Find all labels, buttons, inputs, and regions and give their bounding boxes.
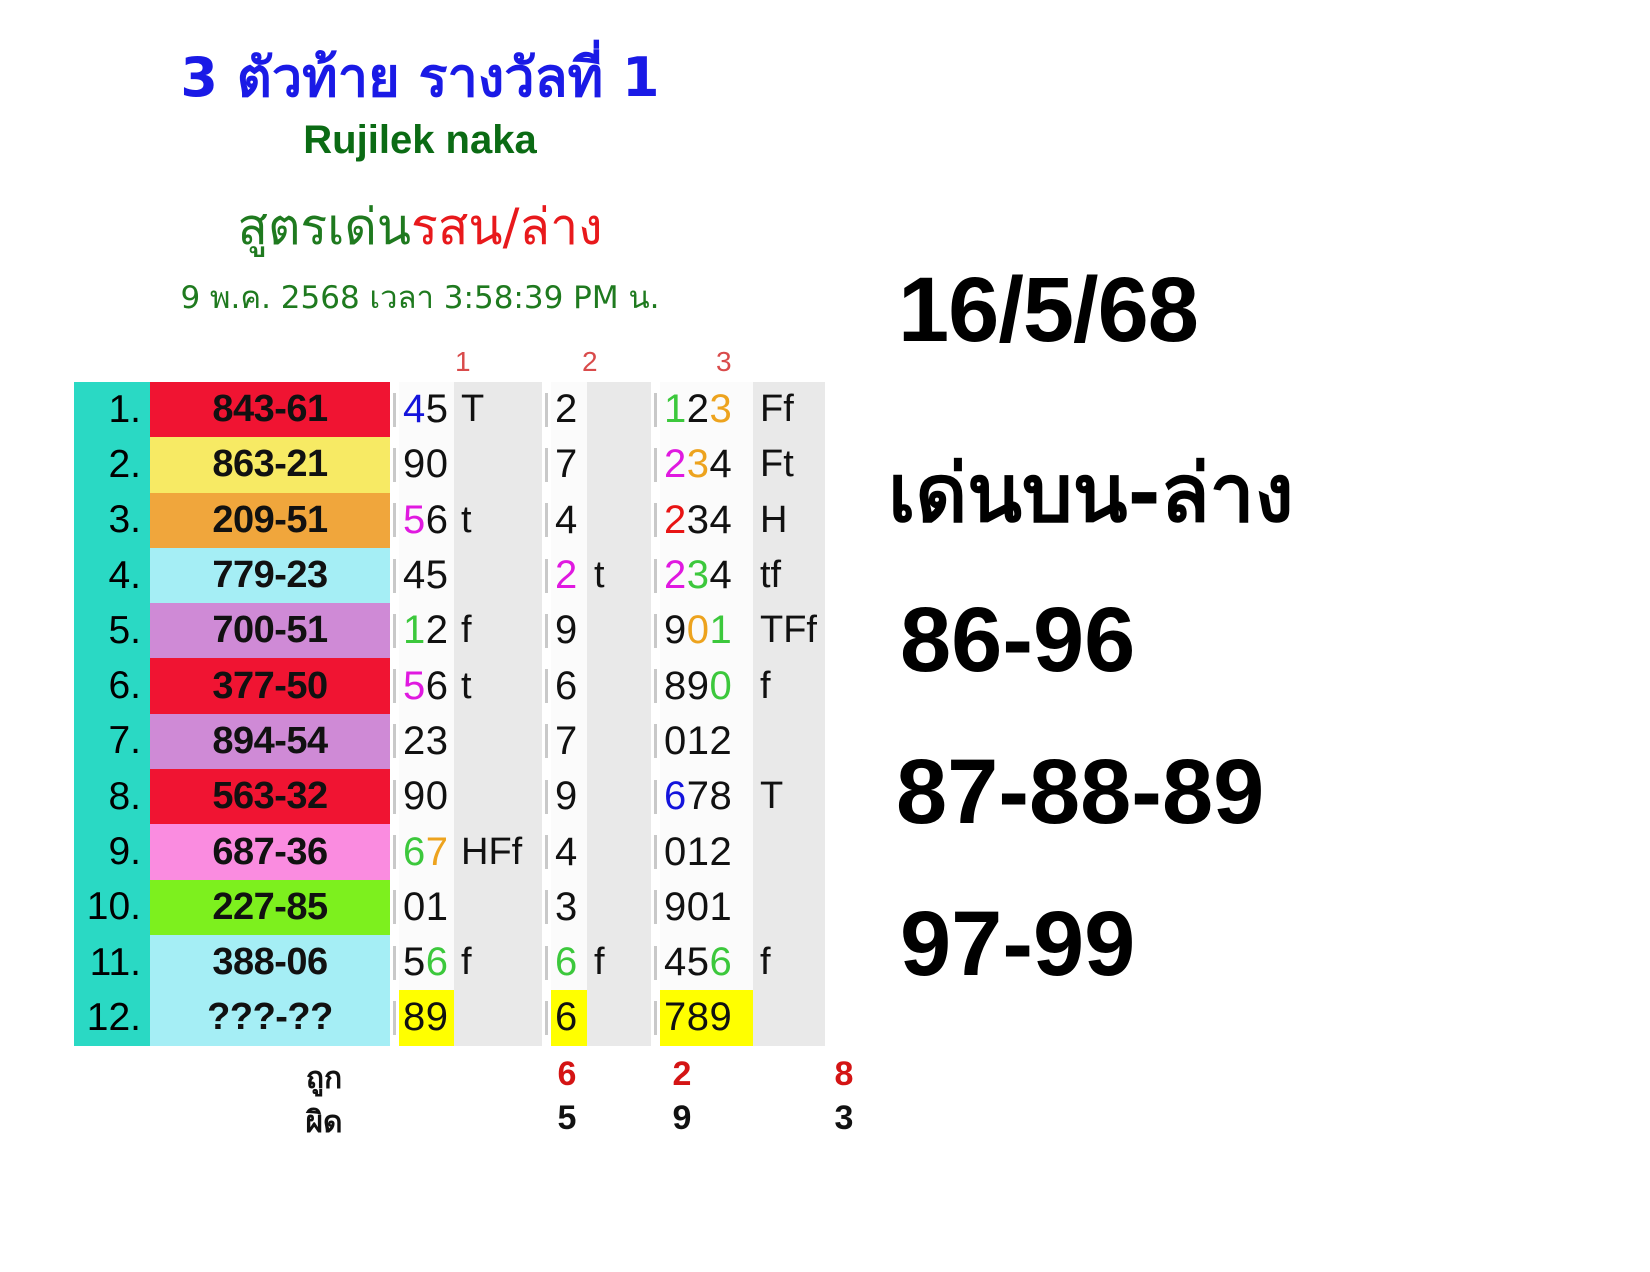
digit: 1 bbox=[710, 608, 733, 653]
group-1-letters bbox=[454, 990, 542, 1045]
group-2-digits: 2 bbox=[551, 382, 587, 437]
column-header-row: 1 2 3 bbox=[0, 348, 880, 380]
digit: 8 bbox=[687, 995, 710, 1040]
row-number: 1. bbox=[74, 382, 150, 437]
separator-bar bbox=[393, 614, 396, 648]
group-1-letters bbox=[454, 880, 542, 935]
digit: 6 bbox=[403, 830, 426, 875]
digit: 6 bbox=[555, 995, 578, 1040]
row-number: 9. bbox=[74, 824, 150, 879]
column-separator bbox=[390, 880, 399, 935]
group-1-digits: 90 bbox=[399, 769, 454, 824]
group-3-letters: TFf bbox=[753, 603, 825, 658]
digit: 2 bbox=[555, 387, 578, 432]
digit: 1 bbox=[403, 608, 426, 653]
group-2-letters bbox=[587, 769, 651, 824]
separator-bar bbox=[654, 1001, 657, 1035]
group-1-cell: 56t bbox=[390, 658, 542, 713]
draw-number: 894-54 bbox=[150, 714, 390, 769]
hit-value-1: 6 bbox=[537, 1055, 597, 1094]
group-2-digits: 7 bbox=[551, 714, 587, 769]
digit: 4 bbox=[710, 442, 733, 487]
digit: 6 bbox=[426, 498, 449, 543]
group-1-letters: HFf bbox=[454, 824, 542, 879]
digit: 7 bbox=[687, 774, 710, 819]
column-separator bbox=[542, 548, 551, 603]
column-separator bbox=[651, 880, 660, 935]
group-3-digits: 456 bbox=[660, 935, 753, 990]
digit: 9 bbox=[555, 608, 578, 653]
group-3-digits: 789 bbox=[660, 990, 753, 1045]
separator-bar bbox=[654, 559, 657, 593]
group-1-cell: 67HFf bbox=[390, 824, 542, 879]
separator-bar bbox=[654, 835, 657, 869]
column-separator bbox=[390, 493, 399, 548]
separator-bar bbox=[545, 393, 548, 427]
group-2-letters: f bbox=[587, 935, 651, 990]
separator-bar bbox=[654, 448, 657, 482]
group-3-cell: 901TFf bbox=[651, 603, 825, 658]
group-2-letters bbox=[587, 658, 651, 713]
column-separator bbox=[542, 990, 551, 1045]
digit: 5 bbox=[687, 940, 710, 985]
group-1-digits: 89 bbox=[399, 990, 454, 1045]
digit: 4 bbox=[403, 387, 426, 432]
column-separator bbox=[390, 548, 399, 603]
digit: 4 bbox=[555, 498, 578, 543]
draw-number: 843-61 bbox=[150, 382, 390, 437]
page-title: 3 ตัวท้าย รางวัลที่ 1 bbox=[0, 34, 840, 120]
row-number: 3. bbox=[74, 493, 150, 548]
column-separator bbox=[390, 437, 399, 492]
row-number: 11. bbox=[74, 935, 150, 990]
digit: 9 bbox=[555, 774, 578, 819]
group-3-cell: 789 bbox=[651, 990, 825, 1045]
draw-number: 227-85 bbox=[150, 880, 390, 935]
digit: 2 bbox=[664, 498, 687, 543]
digit: 4 bbox=[710, 498, 733, 543]
digit: 9 bbox=[403, 774, 426, 819]
group-3-cell: 123Ff bbox=[651, 382, 825, 437]
digit: 7 bbox=[555, 719, 578, 764]
group-3-digits: 234 bbox=[660, 493, 753, 548]
separator-bar bbox=[654, 669, 657, 703]
group-1-letters bbox=[454, 769, 542, 824]
column-separator bbox=[542, 382, 551, 437]
digit: 6 bbox=[664, 774, 687, 819]
column-separator bbox=[390, 714, 399, 769]
table-row: 2.863-21907234Ft bbox=[74, 437, 825, 492]
group-3-digits: 012 bbox=[660, 824, 753, 879]
group-2-cell: 7 bbox=[542, 437, 651, 492]
row-number: 5. bbox=[74, 603, 150, 658]
column-separator bbox=[651, 437, 660, 492]
digit: 1 bbox=[710, 885, 733, 930]
row-number: 10. bbox=[74, 880, 150, 935]
separator-bar bbox=[654, 724, 657, 758]
column-separator bbox=[651, 548, 660, 603]
group-1-cell: 23 bbox=[390, 714, 542, 769]
digit: 1 bbox=[687, 719, 710, 764]
group-3-letters: f bbox=[753, 935, 825, 990]
digit: 5 bbox=[426, 387, 449, 432]
miss-value-2: 9 bbox=[652, 1099, 712, 1138]
group-3-letters bbox=[753, 880, 825, 935]
digit: 9 bbox=[687, 664, 710, 709]
column-separator bbox=[390, 935, 399, 990]
digit: 6 bbox=[426, 664, 449, 709]
draw-number: 863-21 bbox=[150, 437, 390, 492]
column-header-1: 1 bbox=[455, 348, 471, 376]
draw-number: 209-51 bbox=[150, 493, 390, 548]
group-1-cell: 45 bbox=[390, 548, 542, 603]
group-3-digits: 678 bbox=[660, 769, 753, 824]
group-2-cell: 4 bbox=[542, 493, 651, 548]
group-1-cell: 12f bbox=[390, 603, 542, 658]
generated-datetime: 9 พ.ค. 2568 เวลา 3:58:39 PM น. bbox=[0, 272, 840, 322]
group-1-cell: 90 bbox=[390, 769, 542, 824]
score-footer: ถูก 6 2 8 ผิด 5 9 3 bbox=[74, 1055, 880, 1175]
separator-bar bbox=[545, 669, 548, 703]
row-number: 6. bbox=[74, 658, 150, 713]
prediction-line-3: 97-99 bbox=[880, 892, 1650, 997]
group-1-cell: 89 bbox=[390, 990, 542, 1045]
separator-bar bbox=[393, 835, 396, 869]
group-1-digits: 45 bbox=[399, 548, 454, 603]
miss-row: ผิด 5 9 3 bbox=[74, 1099, 880, 1143]
row-number: 2. bbox=[74, 437, 150, 492]
group-3-digits: 901 bbox=[660, 603, 753, 658]
digit: 0 bbox=[710, 664, 733, 709]
digit: 0 bbox=[426, 442, 449, 487]
group-1-letters bbox=[454, 548, 542, 603]
draw-number: 700-51 bbox=[150, 603, 390, 658]
column-separator bbox=[542, 935, 551, 990]
digit: 3 bbox=[687, 553, 710, 598]
separator-bar bbox=[654, 946, 657, 980]
column-separator bbox=[651, 935, 660, 990]
digit: 3 bbox=[710, 387, 733, 432]
group-3-letters bbox=[753, 714, 825, 769]
group-3-cell: 234H bbox=[651, 493, 825, 548]
group-2-digits: 2 bbox=[551, 548, 587, 603]
digit: 8 bbox=[664, 664, 687, 709]
digit: 8 bbox=[710, 774, 733, 819]
column-separator bbox=[542, 769, 551, 824]
hit-label: ถูก bbox=[264, 1055, 384, 1102]
digit: 1 bbox=[664, 387, 687, 432]
group-1-letters: t bbox=[454, 658, 542, 713]
separator-bar bbox=[545, 724, 548, 758]
group-1-letters bbox=[454, 437, 542, 492]
miss-value-3: 3 bbox=[814, 1099, 874, 1138]
digit: 0 bbox=[664, 719, 687, 764]
group-2-letters bbox=[587, 493, 651, 548]
group-3-cell: 012 bbox=[651, 824, 825, 879]
group-3-cell: 901 bbox=[651, 880, 825, 935]
group-3-letters: H bbox=[753, 493, 825, 548]
digit: 0 bbox=[687, 608, 710, 653]
separator-bar bbox=[545, 1001, 548, 1035]
draw-number: ???-?? bbox=[150, 990, 390, 1045]
page-subtitle: Rujilek naka bbox=[0, 118, 840, 163]
group-2-cell: 6f bbox=[542, 935, 651, 990]
group-1-letters: t bbox=[454, 493, 542, 548]
group-3-digits: 901 bbox=[660, 880, 753, 935]
separator-bar bbox=[545, 559, 548, 593]
table-row: 4.779-23452t234tf bbox=[74, 548, 825, 603]
digit: 2 bbox=[687, 387, 710, 432]
table-row: 7.894-54237012 bbox=[74, 714, 825, 769]
group-2-letters bbox=[587, 603, 651, 658]
column-separator bbox=[542, 658, 551, 713]
digit: 2 bbox=[403, 719, 426, 764]
column-separator bbox=[542, 824, 551, 879]
results-table: 1.843-6145T2123Ff2.863-21907234Ft3.209-5… bbox=[74, 382, 825, 1046]
group-1-cell: 45T bbox=[390, 382, 542, 437]
group-2-digits: 9 bbox=[551, 603, 587, 658]
column-separator bbox=[542, 714, 551, 769]
group-2-cell: 4 bbox=[542, 824, 651, 879]
group-1-digits: 56 bbox=[399, 658, 454, 713]
digit: 0 bbox=[687, 885, 710, 930]
group-2-letters bbox=[587, 824, 651, 879]
digit: 9 bbox=[664, 608, 687, 653]
group-3-letters bbox=[753, 824, 825, 879]
separator-bar bbox=[545, 448, 548, 482]
table-row: 1.843-6145T2123Ff bbox=[74, 382, 825, 437]
group-2-cell: 9 bbox=[542, 603, 651, 658]
group-3-letters bbox=[753, 990, 825, 1045]
group-2-letters bbox=[587, 990, 651, 1045]
group-2-letters bbox=[587, 714, 651, 769]
separator-bar bbox=[545, 503, 548, 537]
column-separator bbox=[390, 658, 399, 713]
digit: 7 bbox=[664, 995, 687, 1040]
group-2-digits: 4 bbox=[551, 824, 587, 879]
separator-bar bbox=[393, 669, 396, 703]
column-separator bbox=[651, 603, 660, 658]
separator-bar bbox=[654, 890, 657, 924]
digit: 4 bbox=[555, 830, 578, 875]
separator-bar bbox=[654, 780, 657, 814]
group-3-cell: 234tf bbox=[651, 548, 825, 603]
hit-value-2: 2 bbox=[652, 1055, 712, 1094]
column-separator bbox=[651, 769, 660, 824]
digit: 9 bbox=[403, 442, 426, 487]
table-row: 5.700-5112f9901TFf bbox=[74, 603, 825, 658]
table-row: 8.563-32909678T bbox=[74, 769, 825, 824]
column-separator bbox=[390, 603, 399, 658]
group-3-digits: 234 bbox=[660, 437, 753, 492]
column-header-3: 3 bbox=[716, 348, 732, 376]
column-separator bbox=[542, 880, 551, 935]
row-number: 4. bbox=[74, 548, 150, 603]
group-3-digits: 012 bbox=[660, 714, 753, 769]
draw-number: 377-50 bbox=[150, 658, 390, 713]
draw-number: 388-06 bbox=[150, 935, 390, 990]
digit: 3 bbox=[426, 719, 449, 764]
group-3-letters: f bbox=[753, 658, 825, 713]
group-1-cell: 90 bbox=[390, 437, 542, 492]
digit: 1 bbox=[687, 830, 710, 875]
column-separator bbox=[651, 714, 660, 769]
group-2-cell: 6 bbox=[542, 990, 651, 1045]
miss-label: ผิด bbox=[264, 1099, 384, 1146]
group-1-cell: 56f bbox=[390, 935, 542, 990]
prediction-line-1: 86-96 bbox=[880, 588, 1650, 693]
separator-bar bbox=[545, 780, 548, 814]
column-separator bbox=[542, 603, 551, 658]
group-2-cell: 6 bbox=[542, 658, 651, 713]
group-3-cell: 012 bbox=[651, 714, 825, 769]
column-separator bbox=[390, 824, 399, 879]
group-1-digits: 56 bbox=[399, 493, 454, 548]
column-separator bbox=[651, 493, 660, 548]
digit: 9 bbox=[710, 995, 733, 1040]
group-3-cell: 234Ft bbox=[651, 437, 825, 492]
separator-bar bbox=[654, 503, 657, 537]
draw-number: 687-36 bbox=[150, 824, 390, 879]
group-2-cell: 9 bbox=[542, 769, 651, 824]
group-2-letters bbox=[587, 880, 651, 935]
group-3-letters: Ft bbox=[753, 437, 825, 492]
group-2-digits: 7 bbox=[551, 437, 587, 492]
digit: 5 bbox=[426, 553, 449, 598]
digit: 0 bbox=[403, 885, 426, 930]
group-2-cell: 2t bbox=[542, 548, 651, 603]
digit: 7 bbox=[555, 442, 578, 487]
group-2-cell: 3 bbox=[542, 880, 651, 935]
table-row: 11.388-0656f6f456f bbox=[74, 935, 825, 990]
formula-line: สูตรเด่นรสน/ล่าง bbox=[0, 188, 840, 267]
group-1-digits: 12 bbox=[399, 603, 454, 658]
group-1-letters bbox=[454, 714, 542, 769]
digit: 6 bbox=[426, 940, 449, 985]
group-1-digits: 90 bbox=[399, 437, 454, 492]
digit: 0 bbox=[664, 830, 687, 875]
digit: 1 bbox=[426, 885, 449, 930]
group-1-digits: 45 bbox=[399, 382, 454, 437]
digit: 4 bbox=[403, 553, 426, 598]
group-2-digits: 3 bbox=[551, 880, 587, 935]
group-2-letters: t bbox=[587, 548, 651, 603]
separator-bar bbox=[393, 780, 396, 814]
group-1-cell: 01 bbox=[390, 880, 542, 935]
column-separator bbox=[542, 493, 551, 548]
row-number: 12. bbox=[74, 990, 150, 1045]
separator-bar bbox=[393, 724, 396, 758]
group-1-digits: 56 bbox=[399, 935, 454, 990]
column-separator bbox=[651, 382, 660, 437]
group-3-cell: 890f bbox=[651, 658, 825, 713]
separator-bar bbox=[545, 614, 548, 648]
hit-row: ถูก 6 2 8 bbox=[74, 1055, 880, 1099]
digit: 2 bbox=[664, 442, 687, 487]
digit: 3 bbox=[687, 442, 710, 487]
group-3-cell: 678T bbox=[651, 769, 825, 824]
group-1-letters: T bbox=[454, 382, 542, 437]
separator-bar bbox=[393, 448, 396, 482]
digit: 6 bbox=[555, 664, 578, 709]
table-row: 3.209-5156t4234H bbox=[74, 493, 825, 548]
separator-bar bbox=[654, 393, 657, 427]
digit: 2 bbox=[664, 553, 687, 598]
group-2-letters bbox=[587, 437, 651, 492]
hit-value-3: 8 bbox=[814, 1055, 874, 1094]
digit: 8 bbox=[403, 995, 426, 1040]
separator-bar bbox=[393, 1001, 396, 1035]
table-row: 12.???-??896789 bbox=[74, 990, 825, 1045]
formula-red-part: รสน/ล่าง bbox=[411, 198, 603, 256]
prediction-line-2: 87-88-89 bbox=[880, 740, 1650, 845]
group-1-letters: f bbox=[454, 935, 542, 990]
group-3-letters: tf bbox=[753, 548, 825, 603]
group-2-digits: 6 bbox=[551, 658, 587, 713]
row-number: 8. bbox=[74, 769, 150, 824]
group-3-digits: 234 bbox=[660, 548, 753, 603]
digit: 2 bbox=[710, 719, 733, 764]
column-separator bbox=[651, 658, 660, 713]
digit: 2 bbox=[555, 553, 578, 598]
group-3-digits: 123 bbox=[660, 382, 753, 437]
group-2-letters bbox=[587, 382, 651, 437]
draw-number: 779-23 bbox=[150, 548, 390, 603]
row-number: 7. bbox=[74, 714, 150, 769]
digit: 6 bbox=[710, 940, 733, 985]
separator-bar bbox=[393, 559, 396, 593]
formula-green-part: สูตรเด่น bbox=[237, 198, 411, 256]
table-row: 6.377-5056t6890f bbox=[74, 658, 825, 713]
digit: 6 bbox=[555, 940, 578, 985]
digit: 4 bbox=[710, 553, 733, 598]
group-1-digits: 01 bbox=[399, 880, 454, 935]
column-separator bbox=[651, 824, 660, 879]
digit: 3 bbox=[555, 885, 578, 930]
draw-number: 563-32 bbox=[150, 769, 390, 824]
digit: 3 bbox=[687, 498, 710, 543]
column-separator bbox=[390, 990, 399, 1045]
prediction-panel: 16/5/68 เด่นบน-ล่าง 86-96 87-88-89 97-99 bbox=[880, 0, 1650, 1272]
digit: 5 bbox=[403, 940, 426, 985]
group-3-letters: Ff bbox=[753, 382, 825, 437]
group-2-digits: 4 bbox=[551, 493, 587, 548]
prediction-date: 16/5/68 bbox=[880, 258, 1650, 363]
table-row: 9.687-3667HFf4012 bbox=[74, 824, 825, 879]
separator-bar bbox=[393, 393, 396, 427]
column-separator bbox=[542, 437, 551, 492]
digit: 5 bbox=[403, 664, 426, 709]
separator-bar bbox=[654, 614, 657, 648]
separator-bar bbox=[545, 946, 548, 980]
group-3-letters: T bbox=[753, 769, 825, 824]
group-1-cell: 56t bbox=[390, 493, 542, 548]
separator-bar bbox=[393, 503, 396, 537]
separator-bar bbox=[393, 946, 396, 980]
column-separator bbox=[390, 382, 399, 437]
miss-value-1: 5 bbox=[537, 1099, 597, 1138]
group-1-digits: 23 bbox=[399, 714, 454, 769]
group-2-digits: 6 bbox=[551, 935, 587, 990]
table-row: 10.227-85013901 bbox=[74, 880, 825, 935]
group-2-cell: 7 bbox=[542, 714, 651, 769]
group-2-digits: 6 bbox=[551, 990, 587, 1045]
separator-bar bbox=[545, 890, 548, 924]
digit: 9 bbox=[664, 885, 687, 930]
column-separator bbox=[390, 769, 399, 824]
digit: 0 bbox=[426, 774, 449, 819]
column-separator bbox=[651, 990, 660, 1045]
